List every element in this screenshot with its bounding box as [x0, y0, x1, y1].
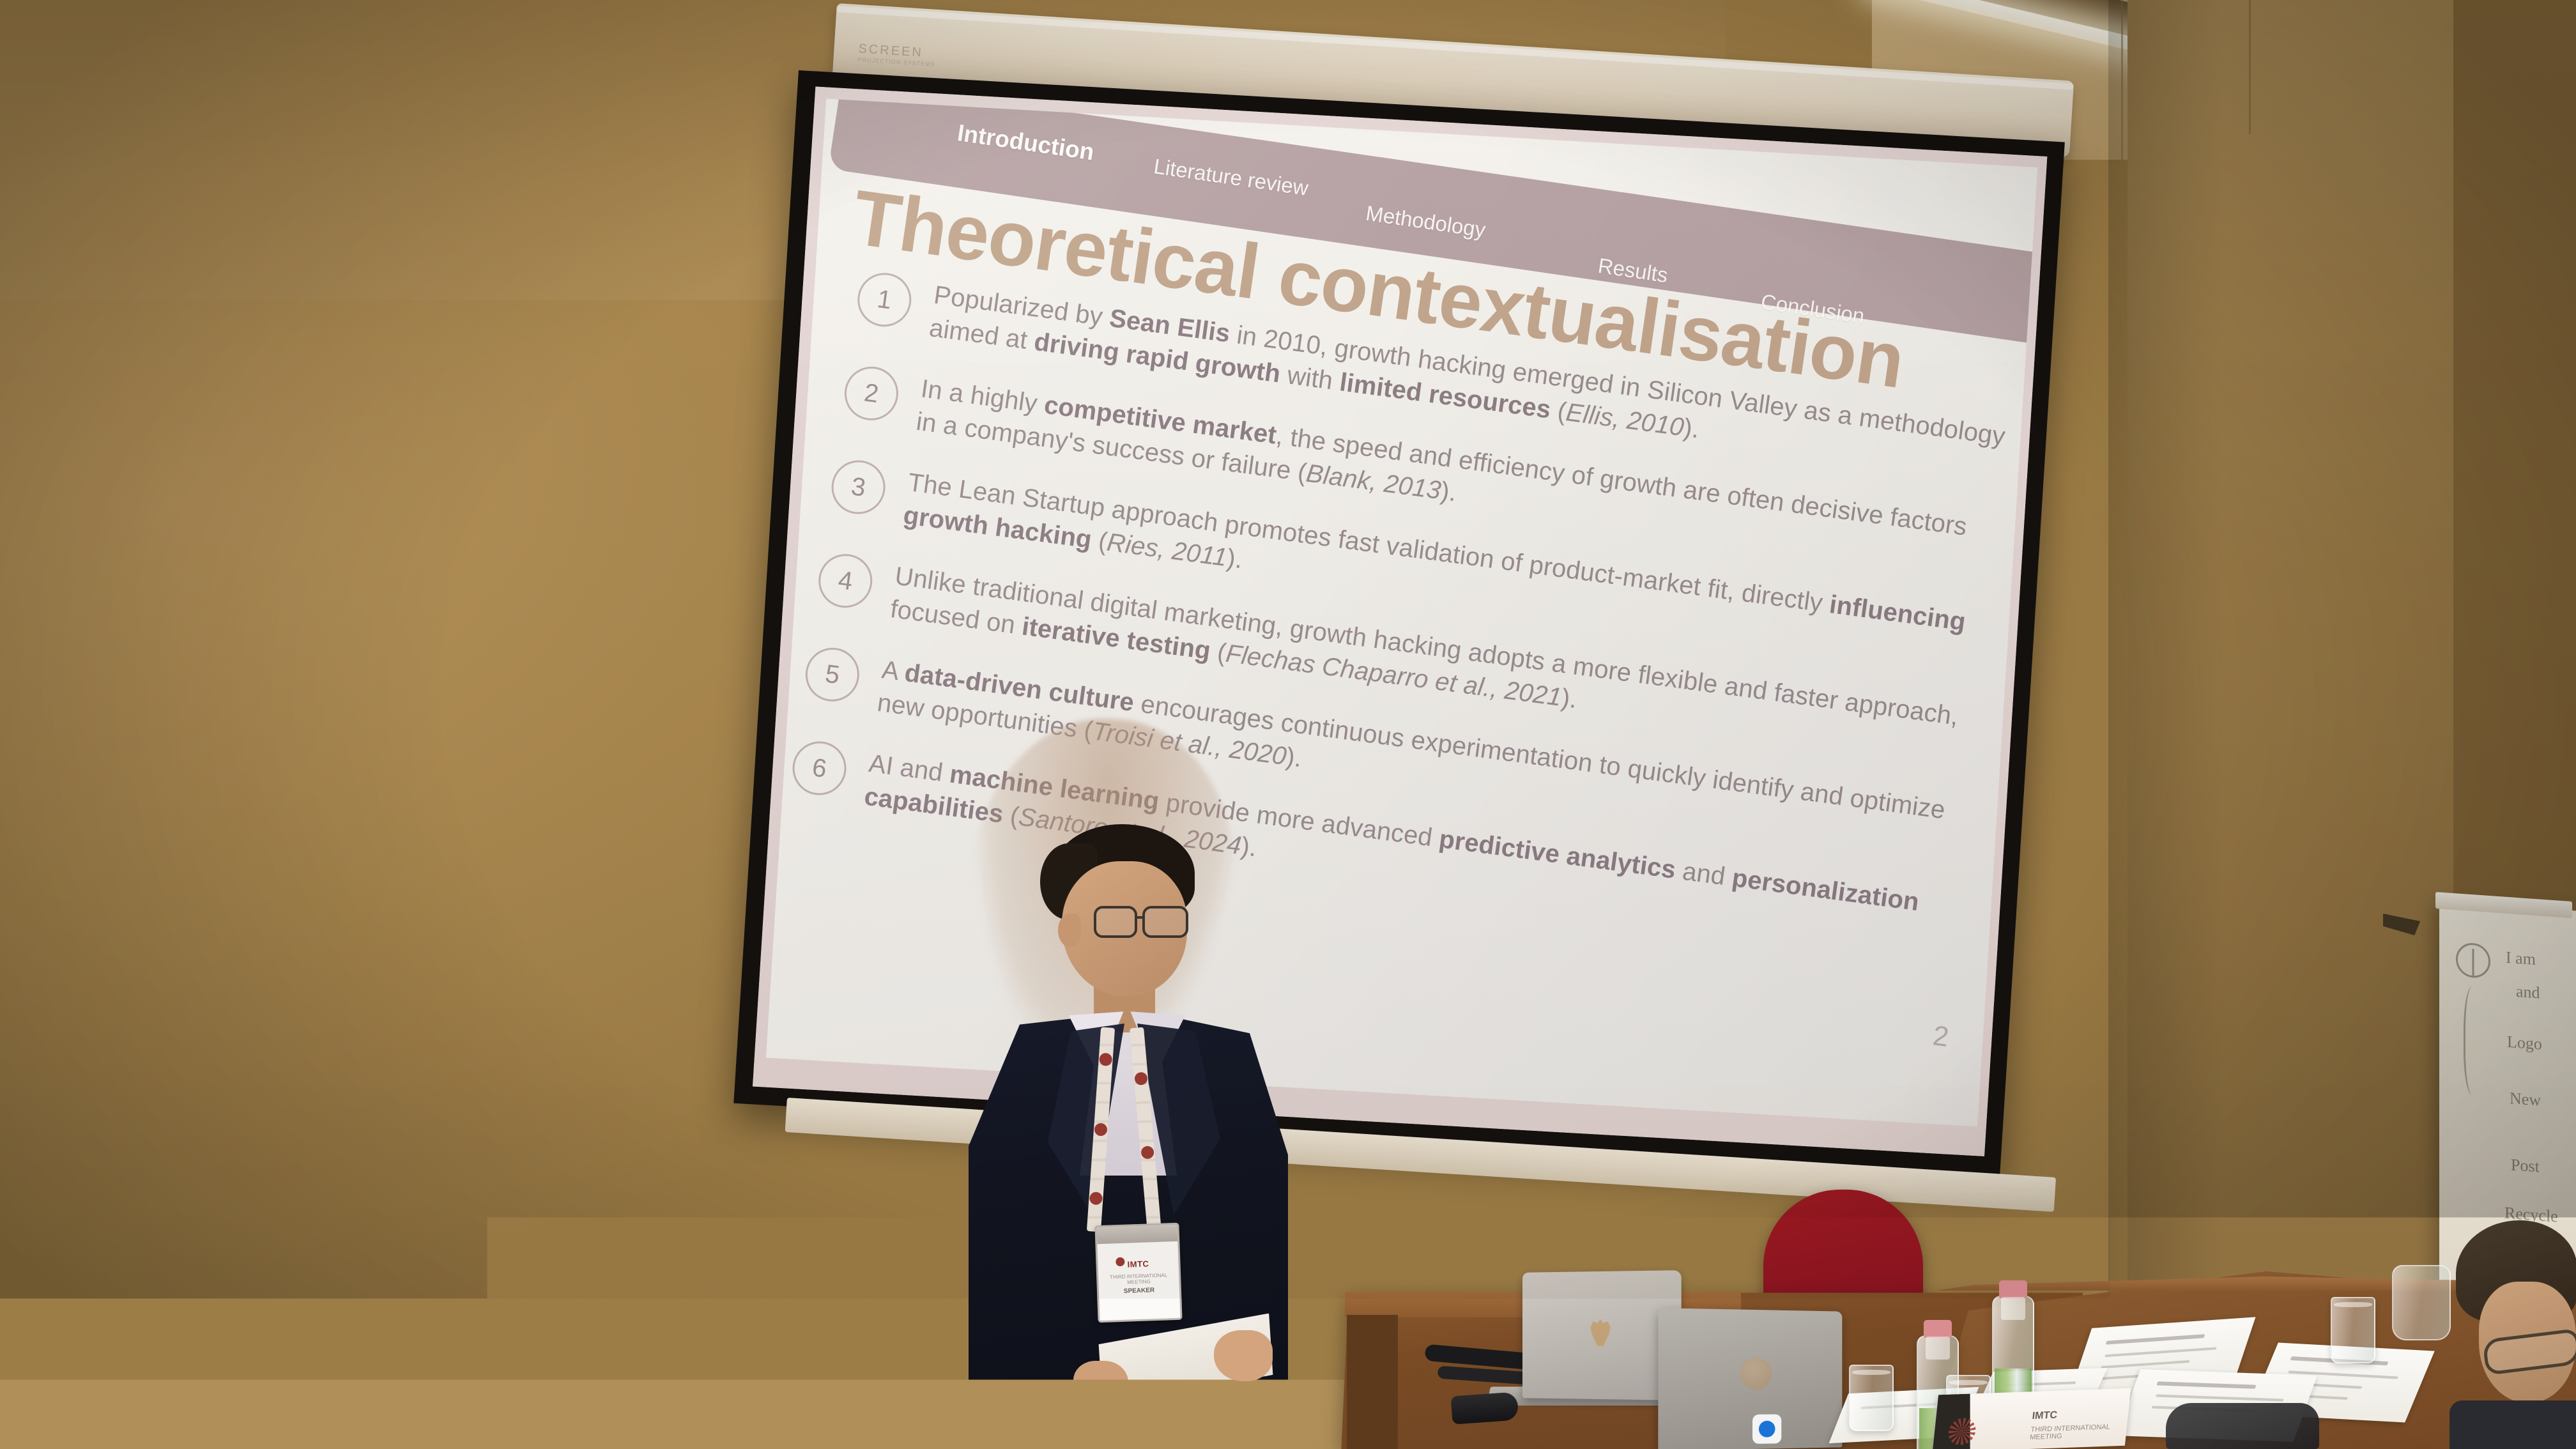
badge-subtitle: THIRD INTERNATIONAL MEETING: [1098, 1272, 1179, 1286]
glasses-bridge: [1136, 916, 1145, 919]
bottle-cap: [1924, 1320, 1952, 1338]
apple-logo-icon: [1589, 1319, 1612, 1346]
flipchart-line: and: [2516, 982, 2540, 1003]
name-card-tent: IMTC THIRD INTERNATIONAL MEETING: [1933, 1388, 2131, 1449]
bottle-cap: [1999, 1280, 2027, 1298]
list-item-number: 5: [802, 645, 863, 705]
flipchart-squiggle: [2464, 986, 2485, 1096]
laptop-sticker: [1752, 1414, 1781, 1444]
lens: [1142, 906, 1188, 938]
ribbon-notch: [828, 99, 900, 178]
badge-clip: [1096, 1225, 1177, 1244]
hand: [1214, 1330, 1273, 1381]
soffit-seam: [2249, 0, 2251, 134]
lanyard-logo-icon: [1089, 1192, 1103, 1205]
bottle-neck: [1926, 1337, 1950, 1360]
lanyard-logo-icon: [1140, 1146, 1154, 1160]
list-item-number: 2: [841, 364, 902, 424]
conference-badge: IMTC THIRD INTERNATIONAL MEETING SPEAKER: [1094, 1223, 1182, 1323]
name-card-title: IMTC: [2032, 1410, 2058, 1422]
water-carafe: [2392, 1265, 2451, 1340]
lanyard-logo-icon: [1094, 1123, 1107, 1136]
name-card-subtitle: THIRD INTERNATIONAL MEETING: [2030, 1423, 2127, 1441]
ear: [1058, 914, 1081, 947]
lanyard-logo-icon: [1134, 1071, 1148, 1085]
flipchart-line: New: [2510, 1089, 2541, 1110]
drinking-glass: [2331, 1297, 2375, 1363]
drinking-glass: [1849, 1365, 1894, 1431]
flipchart-circle-mark: [2456, 942, 2490, 979]
hand: [1073, 1361, 1128, 1409]
hp-laptop[interactable]: [1658, 1308, 1842, 1449]
soffit-seam: [2121, 0, 2123, 160]
bottle-neck: [2001, 1297, 2025, 1320]
flipchart-line: Post: [2511, 1155, 2540, 1176]
eyeglasses: [1094, 906, 1191, 939]
table-leg-left: [1347, 1315, 1398, 1449]
projection-screen: Introduction Literature review Methodolo…: [733, 70, 2065, 1175]
flipchart-line: I am: [2506, 948, 2536, 969]
torso: [2449, 1400, 2576, 1449]
computer-mouse[interactable]: [1451, 1391, 1519, 1424]
list-item-number: 6: [789, 738, 850, 798]
slide-page-number: 2: [1931, 1020, 1951, 1054]
list-item-number: 3: [828, 457, 889, 517]
wall-corner-shadow: [2108, 0, 2223, 1449]
conference-room-photo: SCREEN PROJECTION SYSTEMS Introduction L…: [0, 0, 2576, 1449]
dark-object-on-table: [2166, 1403, 2319, 1449]
badge-org: IMTC: [1098, 1258, 1178, 1270]
seated-audience-member: [2444, 1220, 2576, 1449]
list-item-number: 1: [854, 270, 915, 330]
flipchart-line: Logo: [2507, 1032, 2542, 1054]
case-brand-label: SCREEN PROJECTION SYSTEMS: [857, 42, 936, 68]
hp-logo-icon: [1740, 1358, 1772, 1390]
lens: [1094, 906, 1137, 938]
list-item-number: 4: [815, 551, 876, 611]
trousers: [1000, 1432, 1256, 1449]
badge-name: SPEAKER: [1099, 1286, 1179, 1296]
presenter-person: IMTC THIRD INTERNATIONAL MEETING SPEAKER: [946, 824, 1303, 1449]
lanyard-logo-icon: [1099, 1053, 1112, 1066]
